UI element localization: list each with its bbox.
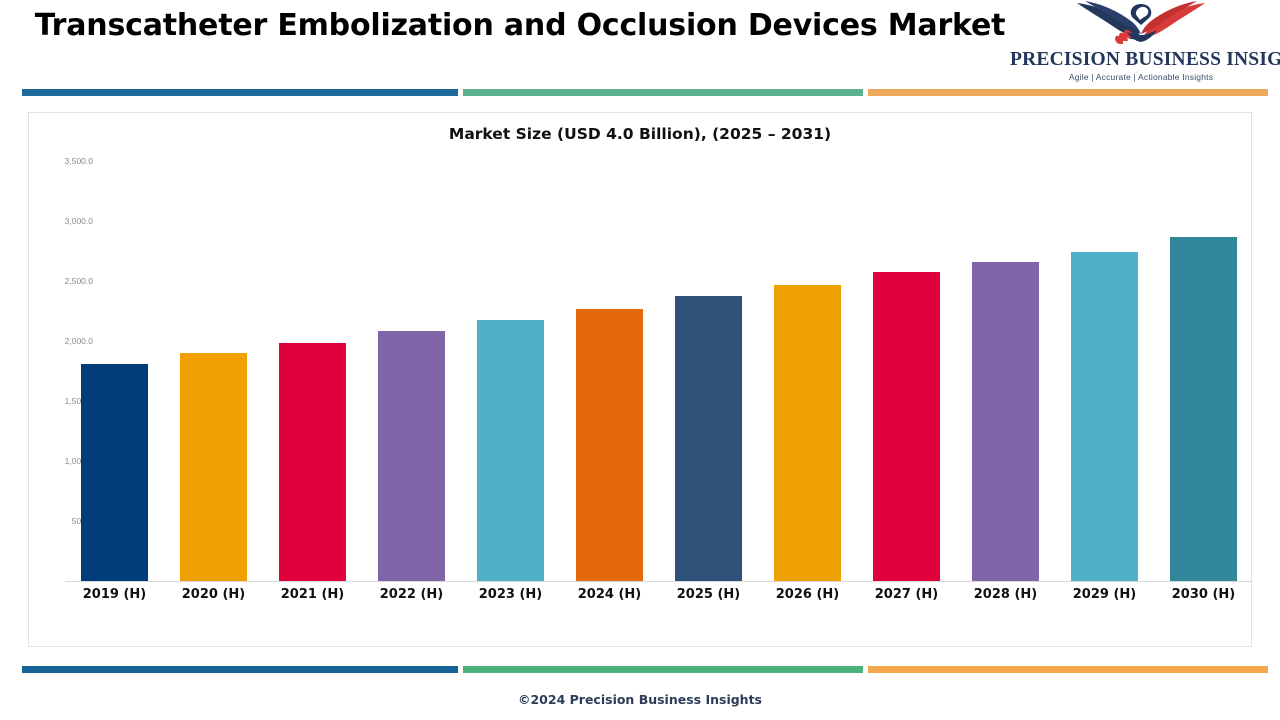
- divider-bottom: [0, 666, 1280, 673]
- footer-copyright: ©2024 Precision Business Insights: [0, 692, 1280, 707]
- bar-slot: [560, 113, 659, 581]
- bar-slot: [758, 113, 857, 581]
- bar-chart-plot: 3,500.03,000.02,500.02,000.01,500.01,000…: [29, 113, 1253, 648]
- bar-slot: [1154, 113, 1253, 581]
- company-logo: PRECISION BUSINESS INSIGHTS Agile | Accu…: [1010, 0, 1272, 92]
- page-header: Transcatheter Embolization and Occlusion…: [0, 0, 1280, 92]
- divider-segment-blue: [22, 666, 458, 673]
- bar[interactable]: [873, 272, 940, 581]
- bar[interactable]: [774, 285, 841, 581]
- bar-slot: [362, 113, 461, 581]
- x-axis-tick-label: 2021 (H): [263, 587, 362, 602]
- bar[interactable]: [378, 331, 445, 581]
- x-axis-tick-label: 2025 (H): [659, 587, 758, 602]
- bar[interactable]: [477, 320, 544, 581]
- bar-slot: [1055, 113, 1154, 581]
- bar-slot: [461, 113, 560, 581]
- bar-slot: [659, 113, 758, 581]
- bar-series: [65, 113, 1253, 581]
- bar-slot: [956, 113, 1055, 581]
- x-axis-tick-label: 2028 (H): [956, 587, 1055, 602]
- chart-panel: Market Size (USD 4.0 Billion), (2025 – 2…: [28, 112, 1252, 647]
- divider-top: [0, 89, 1280, 96]
- eagle-logo-icon: [1075, 1, 1207, 47]
- bar-slot: [164, 113, 263, 581]
- bar[interactable]: [972, 262, 1039, 581]
- logo-tagline: Agile | Accurate | Actionable Insights: [1010, 72, 1272, 82]
- bar[interactable]: [279, 343, 346, 581]
- bar[interactable]: [675, 296, 742, 581]
- bar-slot: [263, 113, 362, 581]
- divider-segment-orange: [868, 89, 1268, 96]
- page-title: Transcatheter Embolization and Occlusion…: [30, 6, 1010, 45]
- bar-slot: [65, 113, 164, 581]
- bar[interactable]: [576, 309, 643, 581]
- x-axis-tick-label: 2026 (H): [758, 587, 857, 602]
- bar[interactable]: [1170, 237, 1237, 581]
- x-axis-tick-label: 2029 (H): [1055, 587, 1154, 602]
- slide-page: Transcatheter Embolization and Occlusion…: [0, 0, 1280, 720]
- x-axis-tick-label: 2024 (H): [560, 587, 659, 602]
- x-axis-tick-label: 2022 (H): [362, 587, 461, 602]
- bar[interactable]: [180, 353, 247, 581]
- x-axis-tick-label: 2030 (H): [1154, 587, 1253, 602]
- divider-segment-green: [463, 666, 863, 673]
- x-axis-line: [65, 581, 1253, 582]
- divider-segment-green: [463, 89, 863, 96]
- x-axis-tick-label: 2027 (H): [857, 587, 956, 602]
- logo-wordmark: PRECISION BUSINESS INSIGHTS: [1010, 49, 1272, 71]
- bar[interactable]: [1071, 252, 1138, 581]
- x-axis-tick-label: 2023 (H): [461, 587, 560, 602]
- x-axis-tick-label: 2020 (H): [164, 587, 263, 602]
- x-axis-labels: 2019 (H)2020 (H)2021 (H)2022 (H)2023 (H)…: [65, 587, 1253, 611]
- divider-segment-orange: [868, 666, 1268, 673]
- x-axis-tick-label: 2019 (H): [65, 587, 164, 602]
- bar[interactable]: [81, 364, 148, 581]
- divider-segment-blue: [22, 89, 458, 96]
- bar-slot: [857, 113, 956, 581]
